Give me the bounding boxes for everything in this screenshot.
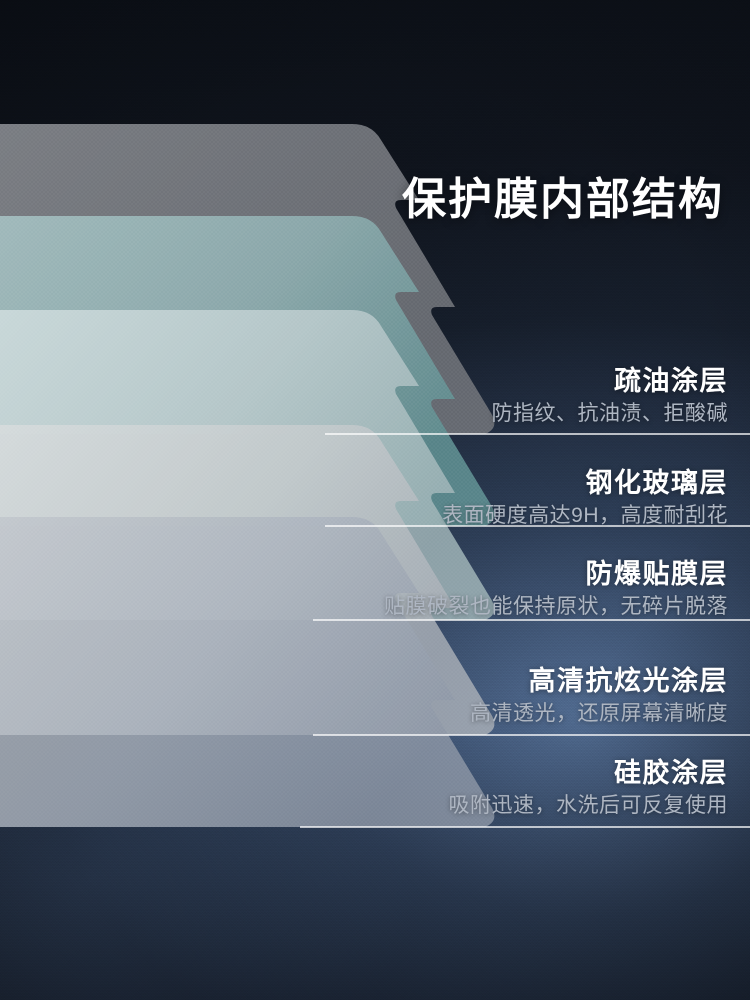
layer-label-4: 高清抗炫光涂层 高清透光，还原屏幕清晰度 <box>470 665 728 729</box>
poster-canvas: 保护膜内部结构 疏油涂层 防指纹、抗油渍、拒酸碱 钢化玻璃层 表面硬度高达9H，… <box>0 0 750 1000</box>
layer-label-1-subtitle: 防指纹、抗油渍、拒酸碱 <box>492 400 729 428</box>
layer-label-4-subtitle: 高清透光，还原屏幕清晰度 <box>470 700 728 728</box>
layer-label-5: 硅胶涂层 吸附迅速，水洗后可反复使用 <box>449 757 729 821</box>
layer-label-2-title: 钢化玻璃层 <box>442 467 728 499</box>
layer-label-3-title: 防爆贴膜层 <box>384 558 728 590</box>
page-title: 保护膜内部结构 <box>402 163 724 227</box>
layer-label-1: 疏油涂层 防指纹、抗油渍、拒酸碱 <box>492 365 729 429</box>
layer-label-5-subtitle: 吸附迅速，水洗后可反复使用 <box>449 792 729 820</box>
layer-label-4-title: 高清抗炫光涂层 <box>470 665 728 697</box>
layer-label-3-subtitle: 贴膜破裂也能保持原状，无碎片脱落 <box>384 593 728 621</box>
layer-label-3: 防爆贴膜层 贴膜破裂也能保持原状，无碎片脱落 <box>384 558 728 622</box>
layer-label-1-title: 疏油涂层 <box>492 365 729 397</box>
layer-label-5-title: 硅胶涂层 <box>449 757 729 789</box>
layer-label-2-subtitle: 表面硬度高达9H，高度耐刮花 <box>442 502 728 530</box>
layer-label-2: 钢化玻璃层 表面硬度高达9H，高度耐刮花 <box>442 467 728 531</box>
